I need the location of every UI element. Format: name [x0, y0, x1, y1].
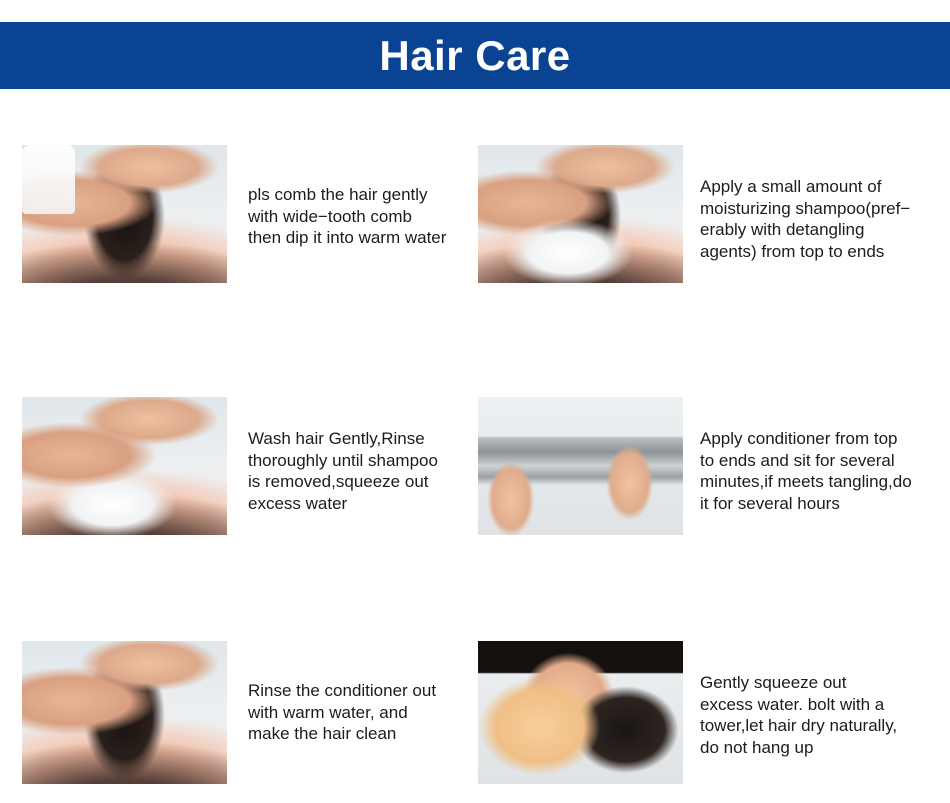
- step-image-6: [478, 641, 683, 784]
- step-image-5: [22, 641, 227, 784]
- hands-illustration: [22, 641, 227, 784]
- step-caption-1: pls comb the hair gently with wide−tooth…: [248, 145, 446, 249]
- step-caption-6: Gently squeeze out excess water. bolt wi…: [700, 641, 897, 758]
- step-image-1: [22, 145, 227, 283]
- step-item-2: Apply a small amount of moisturizing sha…: [478, 145, 910, 283]
- step-image-2: [478, 145, 683, 283]
- step-caption-4: Apply conditioner from top to ends and s…: [700, 397, 912, 514]
- shampoo-bottles-illustration: [22, 145, 75, 214]
- shampoo-foam-illustration: [478, 145, 683, 283]
- step-item-1: pls comb the hair gently with wide−tooth…: [22, 145, 446, 283]
- step-item-3: Wash hair Gently,Rinse thoroughly until …: [22, 397, 438, 535]
- step-caption-2: Apply a small amount of moisturizing sha…: [700, 145, 910, 262]
- hands-illustration: [478, 397, 683, 535]
- step-caption-3: Wash hair Gently,Rinse thoroughly until …: [248, 397, 438, 514]
- hands-illustration: [22, 397, 227, 535]
- page-header-banner: Hair Care: [0, 22, 950, 89]
- step-item-4: Apply conditioner from top to ends and s…: [478, 397, 912, 535]
- step-item-5: Rinse the conditioner out with warm wate…: [22, 641, 436, 784]
- hair-care-steps-grid: pls comb the hair gently with wide−tooth…: [0, 145, 950, 803]
- step-image-3: [22, 397, 227, 535]
- step-image-4: [478, 397, 683, 535]
- towel-illustration: [478, 641, 683, 784]
- step-item-6: Gently squeeze out excess water. bolt wi…: [478, 641, 897, 784]
- step-caption-5: Rinse the conditioner out with warm wate…: [248, 641, 436, 745]
- page-title: Hair Care: [379, 35, 570, 77]
